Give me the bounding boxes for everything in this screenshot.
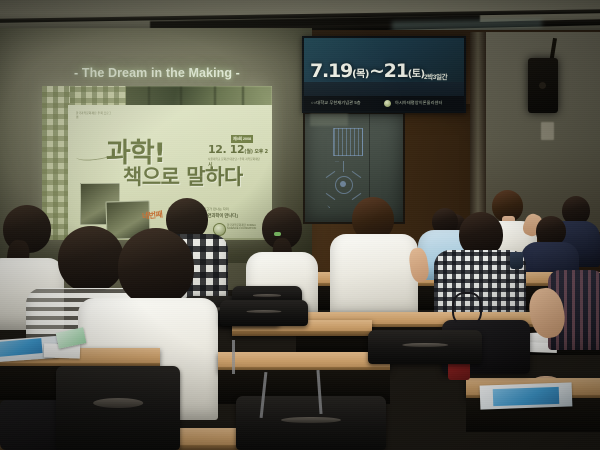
wall-column [470, 32, 486, 237]
whiteboard-highlight [310, 112, 348, 126]
banner-footer: ○○대학교 무한재기념관 5층 아시아태평양이론물리센터 [304, 96, 464, 111]
backpack-strap [452, 292, 482, 326]
banner-day-1: (목) [352, 69, 369, 80]
student-3-head [118, 228, 194, 306]
poster-date-value: 12. 12 [208, 143, 244, 156]
poster-top-small-text: 한국과학문화재단 주최 프로그램 [76, 112, 114, 119]
banner-date-line: 7.19(목)~21(토) [310, 60, 425, 82]
event-banner: 7.19(목)~21(토) 2박3일간 ○○대학교 무한재기념관 5층 아시아태… [302, 36, 466, 113]
chair-handle-slot [253, 294, 281, 297]
chair-back-right[interactable] [220, 300, 308, 326]
banner-day-2: (토) [408, 69, 425, 80]
poster-date-note: 서울대학교 문화관 대강당 / 주최 과학문화재단 [208, 157, 272, 161]
banner-footer-logo-icon [384, 100, 391, 107]
banner-tilde: ~ [369, 60, 384, 82]
lecture-room-photo: - The Dream in the Making - 한국과학문화재단 주최 … [0, 0, 600, 450]
student-6-torso [330, 234, 418, 316]
whiteboard-grid-diagram [333, 128, 363, 156]
booklet-blue-front-right [493, 387, 560, 406]
poster-logo-caption: 한국과학문화재단 KOREA SCIENCE FOUNDATION [227, 224, 267, 231]
banner-date-end: 21 [384, 60, 408, 82]
poster-badge: 네번째 [141, 209, 162, 222]
student-5-hair-tie [274, 232, 281, 236]
banner-duration: 2박3일간 [424, 71, 447, 81]
banner-footer-organizer: 아시아태평양이론물리센터 [395, 100, 442, 106]
slide-poster-image: 한국과학문화재단 주최 프로그램 과학! 책으로 말하다 제9회 2008 12… [42, 86, 272, 240]
speaker-cone-icon [539, 82, 546, 89]
poster-date: 12. 12(월) 오후 2시 [208, 143, 272, 169]
chair-handle-slot [281, 417, 341, 423]
chair-front-center[interactable] [236, 396, 386, 450]
student-2-head [58, 226, 124, 292]
drink-cup [510, 252, 523, 269]
whiteboard-atom-nucleus [340, 181, 346, 187]
chair-front-left[interactable] [56, 366, 180, 450]
wall-outlet [541, 122, 554, 140]
chair-leg-3 [232, 340, 235, 374]
banner-footer-venue: ○○대학교 무한재기념관 5층 [311, 100, 361, 106]
banner-date-main: 7.19 [310, 60, 352, 82]
chair-handle-slot [246, 310, 281, 313]
chair-handle-slot [93, 398, 143, 408]
slide-title: - The Dream in the Making - [54, 66, 260, 80]
wall-speaker [528, 58, 558, 113]
chair-handle-slot [402, 343, 448, 347]
chair-middle-right[interactable] [368, 330, 482, 364]
poster-date-chip: 제9회 2008 [231, 135, 253, 143]
desk-front-center [218, 352, 390, 372]
